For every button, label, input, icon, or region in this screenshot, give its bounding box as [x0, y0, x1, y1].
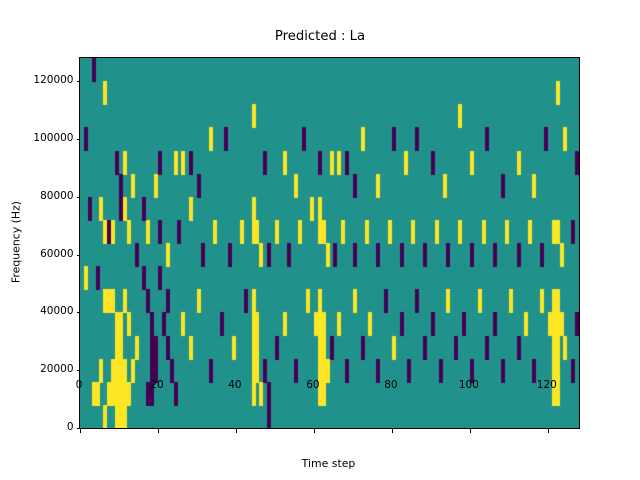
x-tick-label: 20 — [150, 379, 163, 391]
x-tick-label: 80 — [384, 379, 397, 391]
x-tick-mark — [470, 429, 471, 433]
y-tick-mark — [77, 312, 81, 313]
y-tick-label: 80000 — [40, 190, 73, 202]
x-tick-label: 40 — [228, 379, 241, 391]
x-axis-label: Time step — [79, 457, 578, 470]
y-tick-mark — [77, 81, 81, 82]
x-tick-mark — [158, 429, 159, 433]
y-tick-label: 20000 — [40, 363, 73, 375]
x-tick-mark — [80, 429, 81, 433]
y-tick-label: 0 — [67, 421, 74, 433]
x-tick-mark — [392, 429, 393, 433]
y-axis-label: Frequency (Hz) — [10, 201, 23, 283]
y-tick-label: 40000 — [40, 305, 73, 317]
x-tick-mark — [236, 429, 237, 433]
x-tick-label: 60 — [306, 379, 319, 391]
heatmap-canvas — [80, 58, 579, 428]
matplotlib-figure: Predicted : La 0204060801001200200004000… — [0, 0, 640, 480]
heatmap-axes — [79, 57, 580, 429]
y-tick-mark — [77, 428, 81, 429]
y-tick-mark — [77, 139, 81, 140]
y-tick-mark — [77, 197, 81, 198]
chart-title: Predicted : La — [0, 29, 640, 44]
x-tick-label: 0 — [76, 379, 83, 391]
x-tick-label: 100 — [459, 379, 479, 391]
y-tick-mark — [77, 370, 81, 371]
y-tick-label: 60000 — [40, 248, 73, 260]
x-tick-label: 120 — [537, 379, 557, 391]
y-tick-mark — [77, 255, 81, 256]
x-tick-mark — [548, 429, 549, 433]
x-tick-mark — [314, 429, 315, 433]
y-tick-label: 120000 — [33, 74, 73, 86]
y-tick-label: 100000 — [33, 132, 73, 144]
